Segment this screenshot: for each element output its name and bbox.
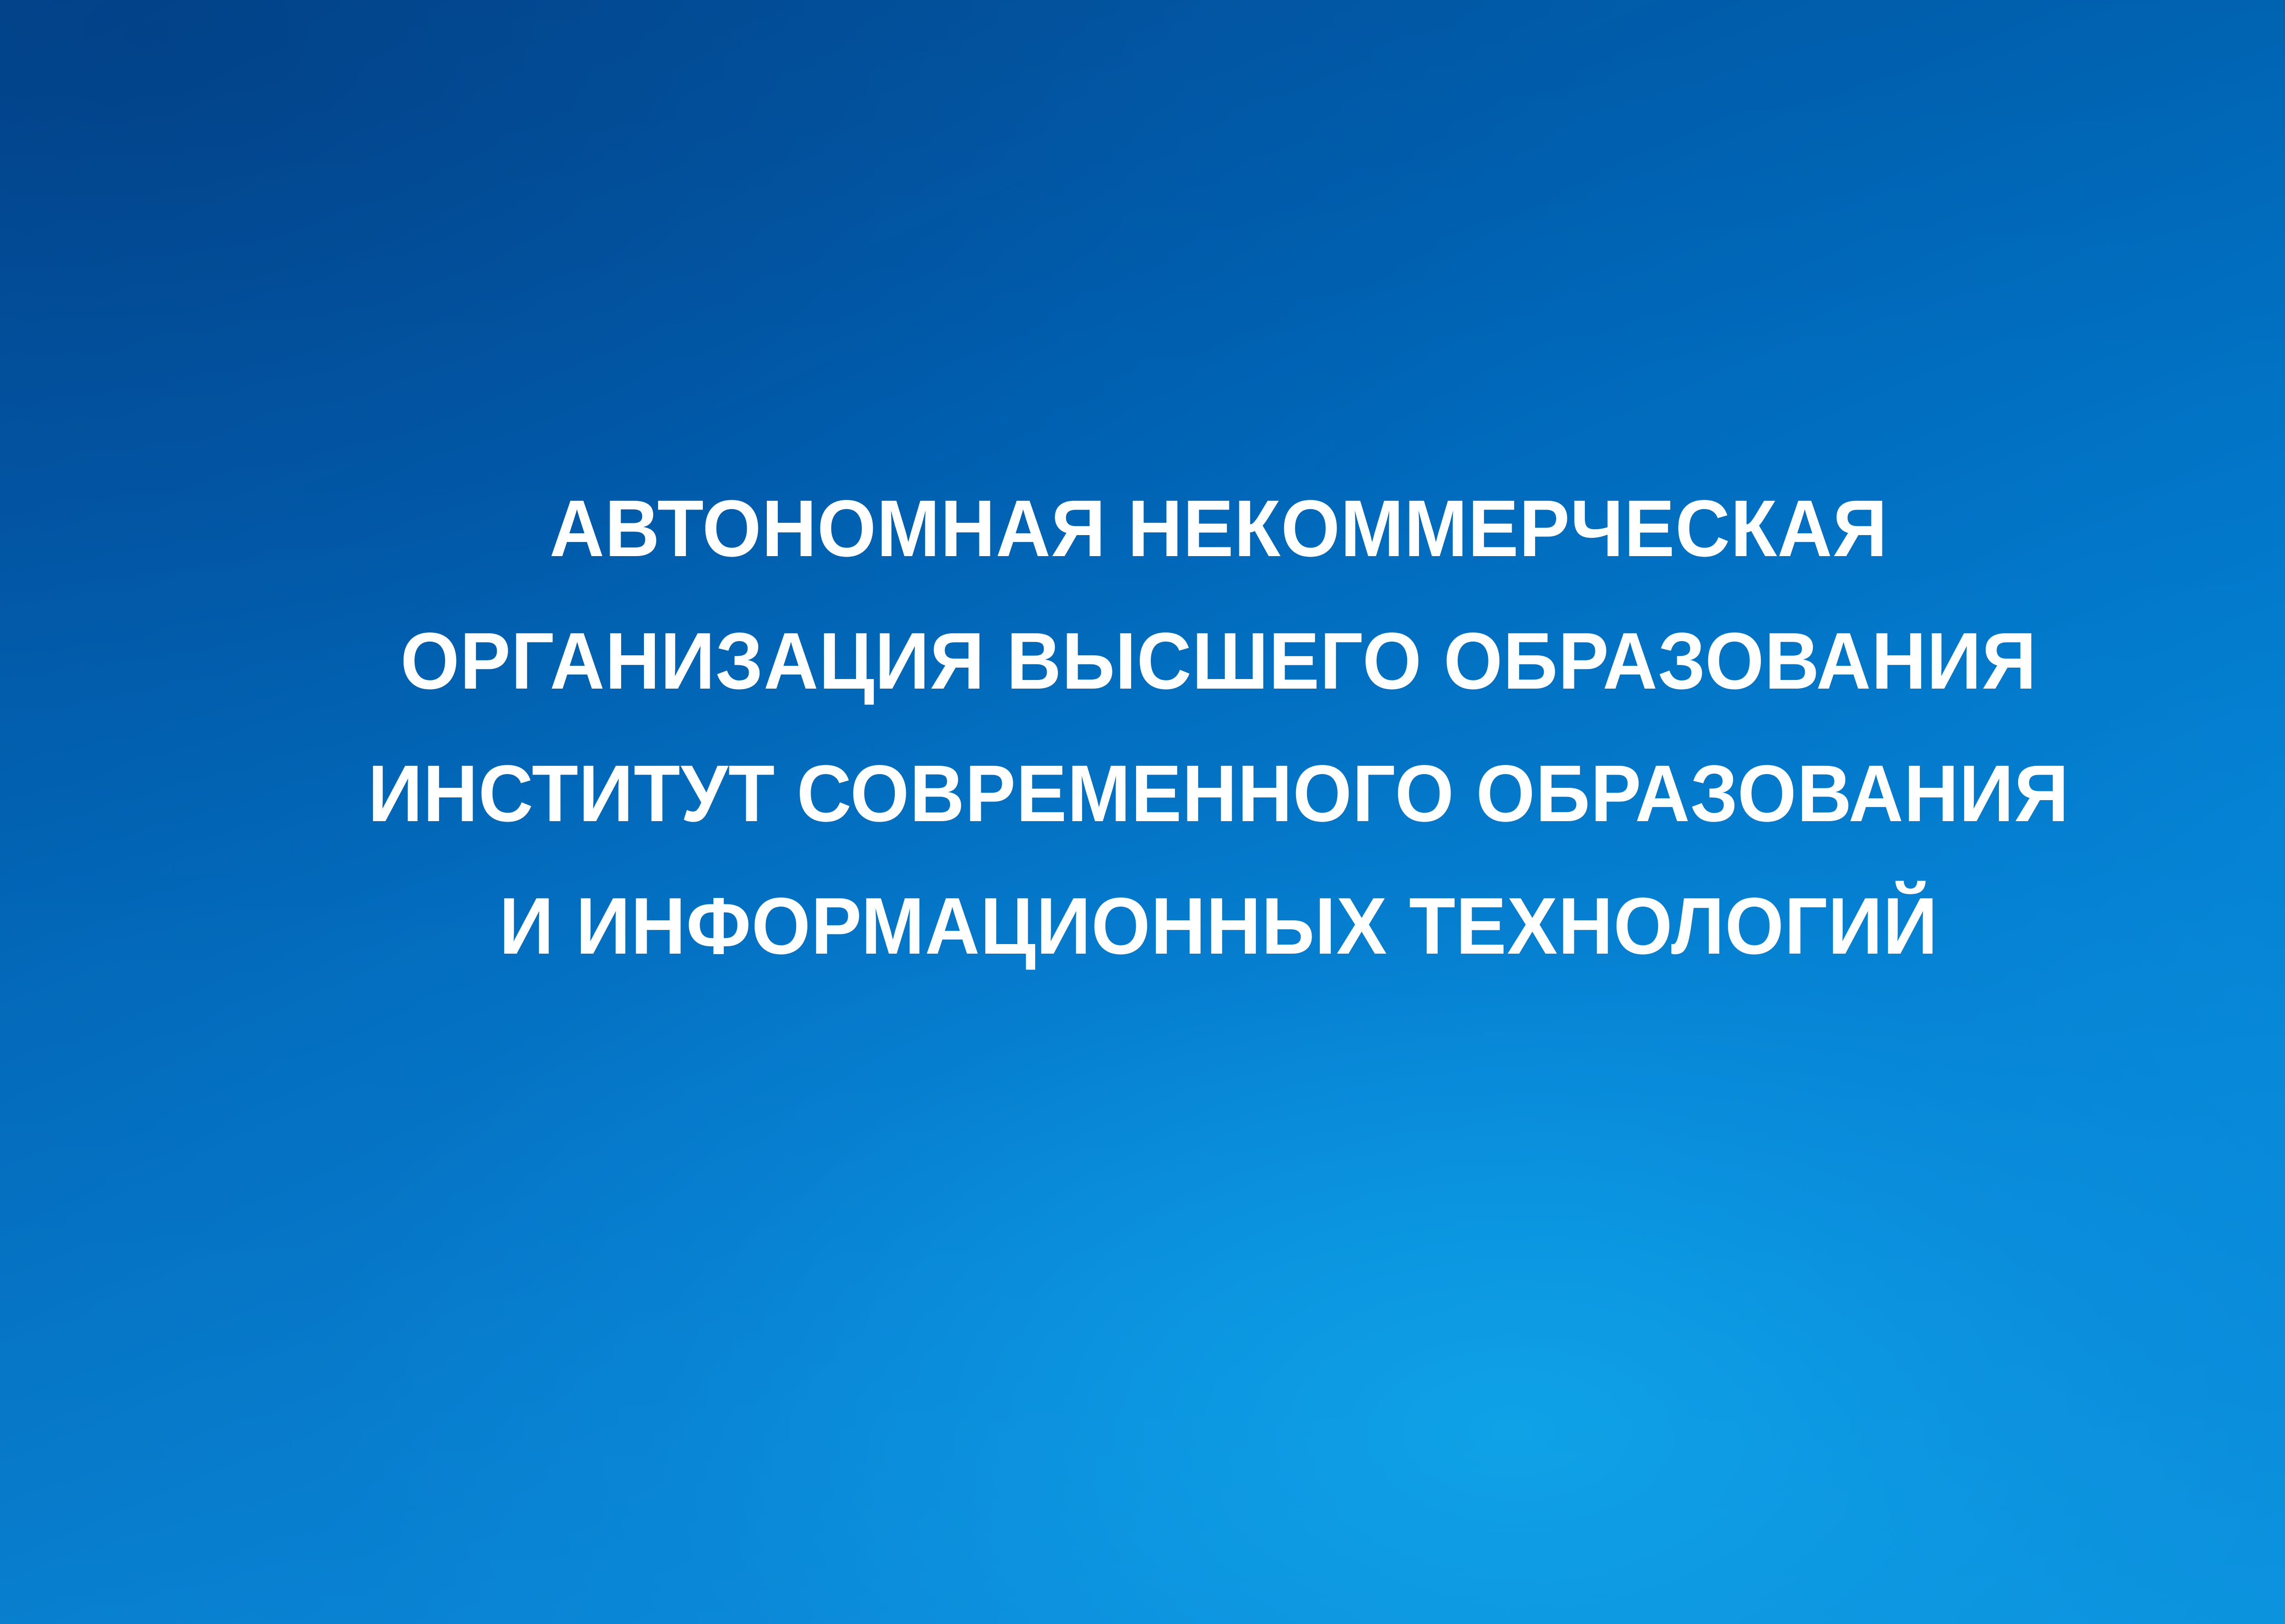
organization-title: АВТОНОМНАЯ НЕКОММЕРЧЕСКАЯ ОРГАНИЗАЦИЯ ВЫ… (0, 462, 2285, 992)
title-line-3: ИНСТИТУТ СОВРЕМЕННОГО ОБРАЗОВАНИЯ (119, 727, 2285, 860)
title-slide: АВТОНОМНАЯ НЕКОММЕРЧЕСКАЯ ОРГАНИЗАЦИЯ ВЫ… (0, 0, 2285, 1624)
title-line-4: И ИНФОРМАЦИОННЫХ ТЕХНОЛОГИЙ (119, 860, 2285, 992)
title-line-1: АВТОНОМНАЯ НЕКОММЕРЧЕСКАЯ (119, 462, 2285, 595)
title-line-2: ОРГАНИЗАЦИЯ ВЫСШЕГО ОБРАЗОВАНИЯ (119, 595, 2285, 727)
